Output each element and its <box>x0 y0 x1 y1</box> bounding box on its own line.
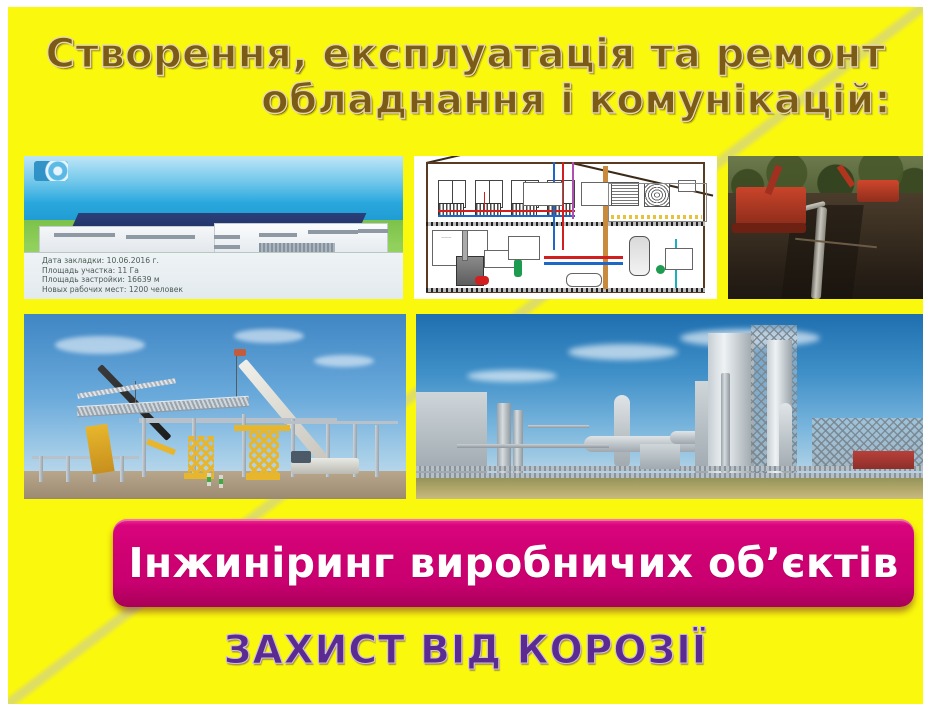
filter-green <box>514 259 522 277</box>
floor-slab-lower <box>426 288 705 292</box>
field-foreground <box>416 475 924 499</box>
photo-industrial-plant <box>416 314 924 499</box>
presentation-slide: Створення, експлуатація та ремонт обладн… <box>0 0 930 713</box>
cloud <box>314 355 374 367</box>
legend-label: ——— <box>441 235 451 239</box>
title-line-1: Створення, експлуатація та ремонт <box>26 31 905 77</box>
service-building <box>640 444 681 470</box>
vertical-duct <box>614 395 630 469</box>
scissor-lift-left <box>188 436 214 477</box>
scissor-lift-base <box>246 473 280 480</box>
steel-column <box>375 425 379 477</box>
window-strip <box>126 235 194 239</box>
window-strip <box>259 233 297 237</box>
caption-line: Площадь участка: 11 Га <box>24 266 403 276</box>
cloud <box>568 344 678 360</box>
vertical-riser-blue <box>553 162 555 251</box>
photo-steel-frame-construction <box>24 314 406 499</box>
caption-line: Площадь застройки: 16639 м <box>24 275 403 285</box>
highlight-banner[interactable]: Інжиніринг виробничих об’єктів <box>113 519 914 607</box>
window-strip <box>358 229 388 233</box>
distribution-header-cold <box>544 262 623 265</box>
window-strip <box>54 233 115 237</box>
cloud <box>55 336 145 354</box>
steel-column <box>66 456 70 482</box>
worker <box>207 473 211 486</box>
riser-duct <box>779 403 792 473</box>
company-logo-icon <box>34 161 68 181</box>
page-title: Створення, експлуатація та ремонт обладн… <box>8 31 923 123</box>
banner-label: Інжиніринг виробничих об’єктів <box>128 539 898 587</box>
caption-line: Дата закладки: 10.06.2016 г. <box>24 253 403 266</box>
steel-column <box>120 456 124 482</box>
distribution-header-hot <box>544 256 623 259</box>
title-line-2: обладнання і комунікацій: <box>26 77 905 123</box>
steel-column <box>39 456 43 482</box>
zone-outline <box>608 183 707 222</box>
footer: ЗАХИСТ ВІД КОРОЗІЇ <box>8 628 923 673</box>
cloud <box>467 370 557 382</box>
manifold-unit-b <box>523 182 563 206</box>
window-strip <box>214 245 241 249</box>
vertical-riser-violet <box>572 162 574 219</box>
main-building-left <box>416 392 487 473</box>
sky <box>416 314 924 499</box>
preheater-tower <box>708 333 754 477</box>
cloud <box>234 329 304 343</box>
crane-cable <box>236 355 237 401</box>
steel-column <box>142 418 146 477</box>
excavator-right <box>857 180 899 202</box>
photo-factory-rendering: Дата закладки: 10.06.2016 г. Площадь уча… <box>24 156 403 299</box>
work-platform <box>234 425 290 431</box>
process-pipe <box>528 425 589 428</box>
schematic-canvas: ——— <box>414 156 717 299</box>
rear-frame-beam <box>284 421 399 424</box>
photo-pipeline-trench <box>728 156 924 299</box>
valve-assembly <box>508 236 540 260</box>
window-strip <box>214 235 241 239</box>
expansion-vessel <box>475 276 489 285</box>
water-treatment-unit <box>665 248 693 270</box>
vertical-riser-red <box>562 162 564 251</box>
storage-tank <box>629 236 650 276</box>
worker <box>219 475 223 488</box>
red-storage-shed <box>853 451 914 470</box>
excavator-left <box>736 187 806 225</box>
flue-stack <box>462 230 468 261</box>
footer-label: ЗАХИСТ ВІД КОРОЗІЇ <box>224 628 707 673</box>
floor-slab-upper <box>426 222 705 226</box>
collector-vessel <box>566 273 602 287</box>
window-strip <box>308 230 357 234</box>
photo-engineering-schematic: ——— <box>414 156 717 299</box>
photo-caption-block: Дата закладки: 10.06.2016 г. Площадь уча… <box>24 252 403 299</box>
steel-column <box>242 414 246 477</box>
scissor-lift-right <box>249 429 279 477</box>
exhaust-stack <box>721 373 730 473</box>
process-pipe <box>457 444 609 448</box>
ground-rack <box>416 473 924 478</box>
ground <box>24 471 406 499</box>
excavator-tracks <box>732 223 806 233</box>
riser-hot <box>484 192 486 212</box>
truck-cab <box>291 451 311 463</box>
caption-line: Новых рабочих мест: 1200 человек <box>24 285 403 295</box>
crane-head <box>234 349 246 356</box>
